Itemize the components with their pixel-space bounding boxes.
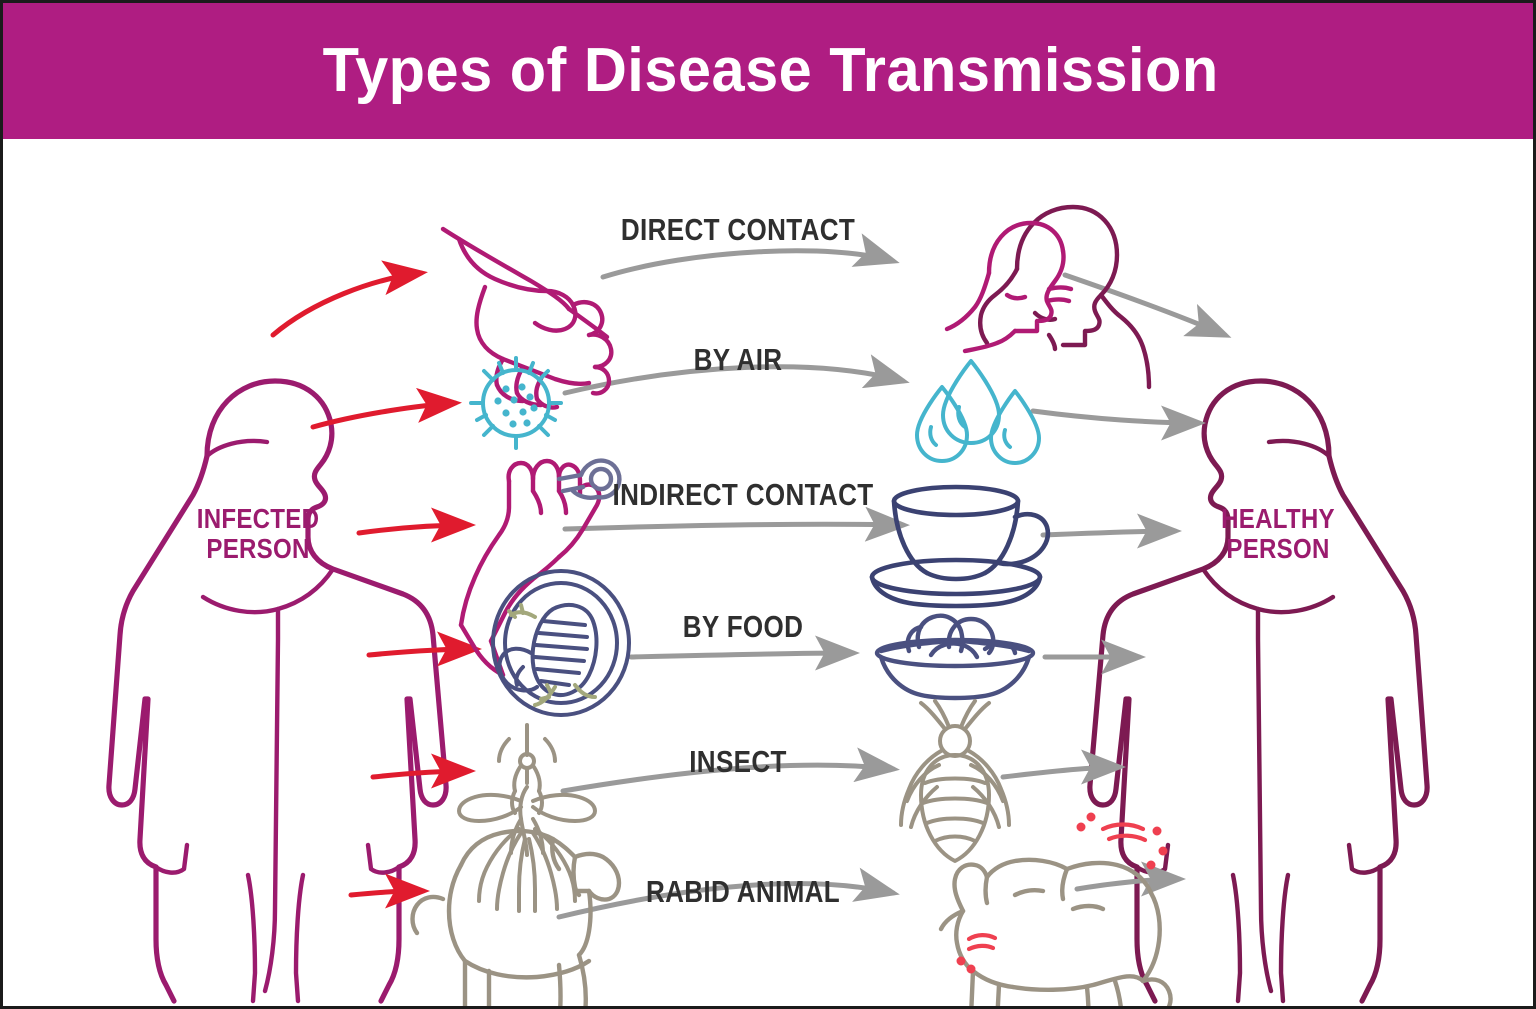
infographic-poster: Types of Disease Transmission bbox=[0, 0, 1536, 1009]
gray-arrow-mid-by-food bbox=[631, 653, 853, 657]
row-label-indirect-contact: INDIRECT CONTACT bbox=[579, 477, 907, 513]
infected-person-label: INFECTED PERSON bbox=[181, 504, 336, 564]
infected-person-label-line1: INFECTED bbox=[181, 504, 336, 534]
gray-arrow-to-healthy-rabid-animal bbox=[1077, 879, 1179, 889]
healthy-person-label: HEALTHY PERSON bbox=[1201, 504, 1356, 564]
healthy-person-label-line1: HEALTHY bbox=[1201, 504, 1356, 534]
droplets-icon bbox=[917, 361, 1039, 463]
plate-of-food-icon bbox=[493, 571, 629, 715]
healthy-person-silhouette bbox=[1090, 381, 1427, 1001]
virus-icon bbox=[471, 358, 561, 448]
red-arrow-rabid-animal bbox=[351, 891, 423, 895]
gray-arrow-to-healthy-insect bbox=[1003, 767, 1119, 777]
red-arrow-indirect-contact bbox=[359, 525, 469, 533]
infected-person-silhouette bbox=[109, 381, 446, 1001]
page-title: Types of Disease Transmission bbox=[323, 40, 1219, 102]
diagram-stage: DIRECT CONTACT BY AIR INDIRECT CONTACT B… bbox=[3, 139, 1533, 1006]
title-banner: Types of Disease Transmission bbox=[3, 3, 1536, 139]
red-arrow-by-food bbox=[369, 649, 475, 655]
gray-arrow-mid-indirect-contact bbox=[565, 524, 903, 529]
healthy-person-label-line2: PERSON bbox=[1201, 534, 1356, 564]
red-arrow-by-air bbox=[313, 403, 455, 427]
gray-arrow-mid-direct-contact bbox=[603, 251, 893, 277]
gray-arrow-to-healthy-direct-contact bbox=[1065, 275, 1225, 335]
gray-arrow-to-healthy-indirect-contact bbox=[1043, 531, 1175, 535]
tick-icon bbox=[901, 701, 1009, 861]
kissing-couple-icon bbox=[947, 207, 1149, 387]
row-label-rabid-animal: RABID ANIMAL bbox=[600, 874, 886, 910]
infected-person-label-line2: PERSON bbox=[181, 534, 336, 564]
row-label-direct-contact: DIRECT CONTACT bbox=[595, 212, 881, 248]
row-label-by-food: BY FOOD bbox=[634, 609, 852, 645]
gray-arrow-to-healthy-by-air bbox=[1033, 411, 1199, 423]
row-label-insect: INSECT bbox=[633, 744, 843, 780]
dog-icon bbox=[413, 831, 620, 1006]
bowl-of-food-icon bbox=[877, 616, 1033, 698]
red-arrow-direct-contact bbox=[273, 273, 421, 335]
handshake-icon bbox=[443, 229, 611, 408]
row-label-by-air: BY AIR bbox=[633, 342, 843, 378]
